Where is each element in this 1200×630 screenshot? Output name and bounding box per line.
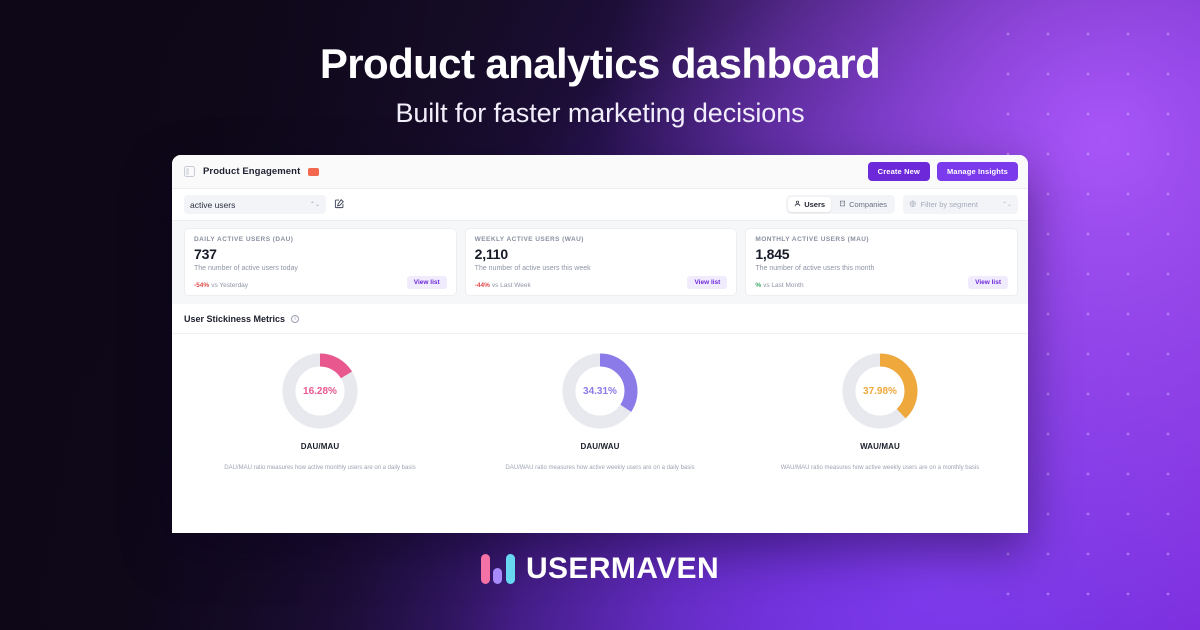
kpi-value: 1,845 — [755, 246, 1008, 262]
donut-description: DAU/WAU ratio measures how active weekly… — [505, 465, 694, 473]
kpi-label: WEEKLY ACTIVE USERS (WAU) — [475, 236, 728, 243]
kpi-delta-suffix: vs Last Month — [763, 282, 803, 289]
entity-type-toggle: Users Companies — [786, 195, 895, 214]
toggle-option-companies[interactable]: Companies — [833, 197, 893, 212]
kpi-label: MONTHLY ACTIVE USERS (MAU) — [755, 236, 1008, 243]
donut-value-label: 16.28% — [281, 352, 359, 430]
logo-bar-pink — [481, 554, 490, 584]
kpi-card-row: DAILY ACTIVE USERS (DAU) 737 The number … — [172, 221, 1028, 304]
status-badge — [308, 168, 319, 176]
kpi-value: 2,110 — [475, 246, 728, 262]
kpi-delta-value: -44% — [475, 282, 490, 289]
logo-bar-cyan — [506, 554, 515, 584]
logo-bars-icon — [481, 554, 515, 584]
panel-icon[interactable] — [184, 166, 195, 177]
view-list-button[interactable]: View list — [407, 276, 447, 289]
edit-square-icon[interactable] — [334, 198, 345, 212]
kpi-description: The number of active users this month — [755, 265, 1008, 272]
globe-icon — [909, 200, 917, 210]
app-window-screenshot: Product Engagement Create New Manage Ins… — [172, 155, 1028, 533]
segment-filter-select[interactable]: Filter by segment ⌃⌄ — [903, 195, 1018, 214]
kpi-card-dau: DAILY ACTIVE USERS (DAU) 737 The number … — [184, 228, 457, 296]
stickiness-title: User Stickiness Metrics — [184, 314, 285, 324]
donut-value-label: 37.98% — [841, 352, 919, 430]
info-icon[interactable]: i — [291, 315, 299, 323]
controls-row: active users ⌃⌄ Users — [172, 189, 1028, 221]
toggle-option-users-label: Users — [804, 200, 825, 209]
donut-gauge: 37.98% — [841, 352, 919, 430]
manage-insights-button[interactable]: Manage Insights — [937, 162, 1018, 181]
kpi-card-wau: WEEKLY ACTIVE USERS (WAU) 2,110 The numb… — [465, 228, 738, 296]
donut-chart-dau-mau: 16.28% DAU/MAU DAU/MAU ratio measures ho… — [180, 352, 460, 533]
logo-bar-purple — [493, 568, 502, 584]
kpi-delta: -44%vs Last Week — [475, 282, 531, 289]
view-list-button[interactable]: View list — [968, 276, 1008, 289]
dashboard-name: Product Engagement — [203, 166, 300, 177]
donut-chart-dau-wau: 34.31% DAU/WAU DAU/WAU ratio measures ho… — [460, 352, 740, 533]
kpi-delta-value: -54% — [194, 282, 209, 289]
kpi-footer: -54%vs Yesterday View list — [194, 276, 447, 289]
metric-select[interactable]: active users ⌃⌄ — [184, 195, 326, 214]
page-subtitle: Built for faster marketing decisions — [0, 98, 1200, 129]
brand-logo: USERMAVEN — [0, 552, 1200, 586]
metric-select-value: active users — [190, 200, 235, 210]
view-list-button[interactable]: View list — [687, 276, 727, 289]
kpi-label: DAILY ACTIVE USERS (DAU) — [194, 236, 447, 243]
toggle-option-users[interactable]: Users — [788, 197, 831, 212]
kpi-delta: -54%vs Yesterday — [194, 282, 248, 289]
kpi-delta-suffix: vs Yesterday — [211, 282, 248, 289]
donut-description: WAU/MAU ratio measures how active weekly… — [781, 465, 980, 473]
chevron-updown-icon: ⌃⌄ — [1002, 201, 1012, 208]
create-new-button[interactable]: Create New — [868, 162, 930, 181]
kpi-value: 737 — [194, 246, 447, 262]
kpi-description: The number of active users this week — [475, 265, 728, 272]
kpi-delta-value: % — [755, 282, 761, 289]
donut-description: DAU/MAU ratio measures how active monthl… — [224, 465, 415, 473]
kpi-delta: %vs Last Month — [755, 282, 803, 289]
donut-chart-wau-mau: 37.98% WAU/MAU WAU/MAU ratio measures ho… — [740, 352, 1020, 533]
donut-name: DAU/MAU — [301, 442, 339, 451]
donut-gauge: 16.28% — [281, 352, 359, 430]
segment-filter-placeholder: Filter by segment — [921, 200, 979, 209]
stickiness-section-header: User Stickiness Metrics i — [172, 304, 1028, 334]
donut-name: WAU/MAU — [860, 442, 900, 451]
app-topbar: Product Engagement Create New Manage Ins… — [172, 155, 1028, 189]
topbar-actions: Create New Manage Insights — [868, 162, 1018, 181]
donut-value-label: 34.31% — [561, 352, 639, 430]
controls-right-group: Users Companies Filter by — [786, 195, 1018, 214]
kpi-footer: -44%vs Last Week View list — [475, 276, 728, 289]
hero-section: Product analytics dashboard Built for fa… — [0, 0, 1200, 129]
user-icon — [794, 200, 801, 209]
kpi-delta-suffix: vs Last Week — [492, 282, 531, 289]
kpi-card-mau: MONTHLY ACTIVE USERS (MAU) 1,845 The num… — [745, 228, 1018, 296]
building-icon — [839, 200, 846, 209]
donut-gauge: 34.31% — [561, 352, 639, 430]
topbar-left-group: Product Engagement — [184, 166, 319, 177]
donut-name: DAU/WAU — [581, 442, 620, 451]
kpi-description: The number of active users today — [194, 265, 447, 272]
donut-chart-group: 16.28% DAU/MAU DAU/MAU ratio measures ho… — [172, 334, 1028, 533]
logo-wordmark: USERMAVEN — [526, 552, 719, 586]
toggle-option-companies-label: Companies — [849, 200, 887, 209]
kpi-footer: %vs Last Month View list — [755, 276, 1008, 289]
page-title: Product analytics dashboard — [0, 40, 1200, 88]
chevron-updown-icon: ⌃⌄ — [310, 202, 320, 208]
